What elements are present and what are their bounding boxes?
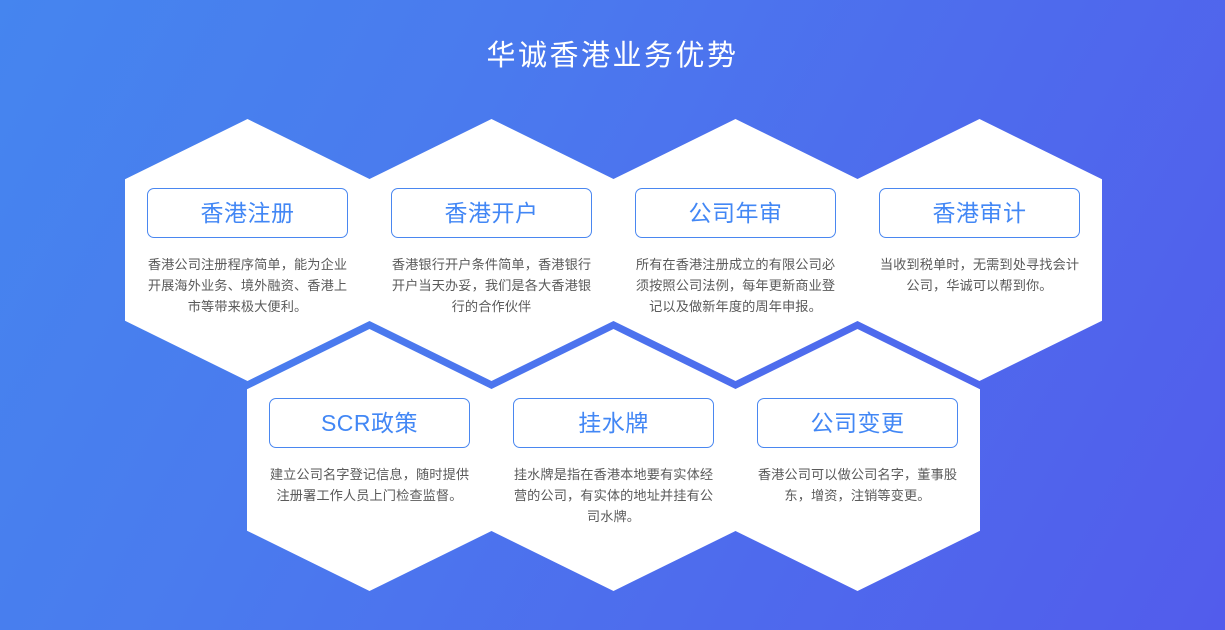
hex-card-body: 香港公司注册程序简单，能为企业开展海外业务、境外融资、香港上市等带来极大便利。 <box>143 254 352 317</box>
hex-card-title: 香港开户 <box>445 200 539 226</box>
hex-card-title-box[interactable]: 挂水牌 <box>513 398 714 448</box>
hex-card-body: 香港公司可以做公司名字，董事股东，增资，注销等变更。 <box>753 464 962 506</box>
hex-card-title: 香港注册 <box>201 200 295 226</box>
hex-card-body: 当收到税单时，无需到处寻找会计公司，华诚可以帮到你。 <box>875 254 1084 296</box>
hex-card-body: 所有在香港注册成立的有限公司必须按照公司法例，每年更新商业登记以及做新年度的周年… <box>631 254 840 317</box>
hex-card-content: 挂水牌 挂水牌是指在香港本地要有实体经营的公司，有实体的地址并挂有公司水牌。 <box>491 329 736 591</box>
hex-card-content: 香港审计 当收到税单时，无需到处寻找会计公司，华诚可以帮到你。 <box>857 119 1102 381</box>
hex-card-company-change[interactable]: 公司变更 香港公司可以做公司名字，董事股东，增资，注销等变更。 <box>735 329 980 591</box>
hex-card-annual-review[interactable]: 公司年审 所有在香港注册成立的有限公司必须按照公司法例，每年更新商业登记以及做新… <box>613 119 858 381</box>
hex-card-title: 公司变更 <box>811 410 905 436</box>
hex-card-title: 挂水牌 <box>578 410 649 436</box>
hex-card-title-box[interactable]: 香港注册 <box>147 188 348 238</box>
hex-card-hk-bank-account[interactable]: 香港开户 香港银行开户条件简单，香港银行开户当天办妥，我们是各大香港银行的合作伙… <box>369 119 614 381</box>
hex-card-title-box[interactable]: 香港审计 <box>879 188 1080 238</box>
hex-card-title-box[interactable]: 公司年审 <box>635 188 836 238</box>
hex-card-body: 建立公司名字登记信息，随时提供注册署工作人员上门检查监督。 <box>265 464 474 506</box>
hex-card-scr-policy[interactable]: SCR政策 建立公司名字登记信息，随时提供注册署工作人员上门检查监督。 <box>247 329 492 591</box>
hex-card-content: 香港开户 香港银行开户条件简单，香港银行开户当天办妥，我们是各大香港银行的合作伙… <box>369 119 614 381</box>
hex-card-title: 香港审计 <box>933 200 1027 226</box>
hex-card-water-plate[interactable]: 挂水牌 挂水牌是指在香港本地要有实体经营的公司，有实体的地址并挂有公司水牌。 <box>491 329 736 591</box>
infographic-canvas: 华诚香港业务优势 香港注册 香港公司注册程序简单，能为企业开展海外业务、境外融资… <box>0 0 1225 630</box>
hex-card-body: 挂水牌是指在香港本地要有实体经营的公司，有实体的地址并挂有公司水牌。 <box>509 464 718 527</box>
hex-card-content: SCR政策 建立公司名字登记信息，随时提供注册署工作人员上门检查监督。 <box>247 329 492 591</box>
hex-card-hk-registration[interactable]: 香港注册 香港公司注册程序简单，能为企业开展海外业务、境外融资、香港上市等带来极… <box>125 119 370 381</box>
hex-card-title-box[interactable]: 香港开户 <box>391 188 592 238</box>
hex-card-body: 香港银行开户条件简单，香港银行开户当天办妥，我们是各大香港银行的合作伙伴 <box>387 254 596 317</box>
hex-card-title-box[interactable]: SCR政策 <box>269 398 470 448</box>
hex-card-content: 香港注册 香港公司注册程序简单，能为企业开展海外业务、境外融资、香港上市等带来极… <box>125 119 370 381</box>
page-title: 华诚香港业务优势 <box>0 40 1225 72</box>
hex-card-hk-audit[interactable]: 香港审计 当收到税单时，无需到处寻找会计公司，华诚可以帮到你。 <box>857 119 1102 381</box>
hex-card-title: 公司年审 <box>689 200 783 226</box>
hex-card-content: 公司变更 香港公司可以做公司名字，董事股东，增资，注销等变更。 <box>735 329 980 591</box>
hex-card-title-box[interactable]: 公司变更 <box>757 398 958 448</box>
hex-card-content: 公司年审 所有在香港注册成立的有限公司必须按照公司法例，每年更新商业登记以及做新… <box>613 119 858 381</box>
hex-card-title: SCR政策 <box>321 410 418 436</box>
